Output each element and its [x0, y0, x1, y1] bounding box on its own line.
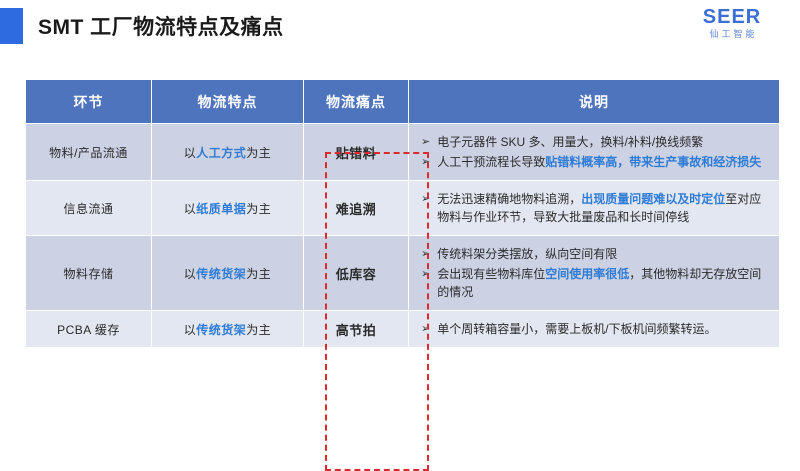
cell-pain-point: 难追溯: [304, 181, 408, 235]
table-row: 信息流通以纸质单据为主难追溯➢无法迅速精确地物料追溯，出现质量问题难以及时定位至…: [26, 181, 779, 235]
bullet-segment: 人工干预流程长导致: [437, 155, 545, 169]
cell-pain-point: 贴错料: [304, 124, 408, 180]
page-header: SMT 工厂物流特点及痛点 SEER 仙工智能: [0, 0, 800, 62]
feature-prefix: 以: [184, 267, 197, 281]
description-bullet: ➢传统料架分类摆放，纵向空间有限: [421, 245, 769, 263]
bullet-segment: 单个周转箱容量小，需要上板机/下板机间频繁转运。: [437, 322, 716, 336]
logistics-table-wrapper: 环节 物流特点 物流痛点 说明 物料/产品流通以人工方式为主贴错料➢电子元器件 …: [25, 79, 778, 395]
bullet-arrow-icon: ➢: [421, 133, 430, 151]
bullet-arrow-icon: ➢: [421, 245, 430, 263]
feature-highlight: 传统货架: [196, 267, 246, 281]
table-row: 物料存储以传统货架为主低库容➢传统料架分类摆放，纵向空间有限➢会出现有些物料库位…: [26, 236, 779, 310]
cell-feature: 以传统货架为主: [152, 236, 303, 310]
bullet-text: 传统料架分类摆放，纵向空间有限: [437, 245, 769, 263]
description-bullet: ➢电子元器件 SKU 多、用量大，换料/补料/换线频繁: [421, 133, 769, 151]
bullet-arrow-icon: ➢: [421, 190, 430, 208]
feature-highlight: 人工方式: [196, 146, 246, 160]
column-header-feature: 物流特点: [152, 80, 303, 123]
bullet-text: 电子元器件 SKU 多、用量大，换料/补料/换线频繁: [437, 133, 769, 151]
cell-description: ➢单个周转箱容量小，需要上板机/下板机间频繁转运。: [409, 311, 779, 347]
bullet-segment: 贴错料概率高，带来生产事故和经济损失: [545, 155, 761, 169]
logistics-table: 环节 物流特点 物流痛点 说明 物料/产品流通以人工方式为主贴错料➢电子元器件 …: [25, 79, 780, 348]
description-bullet: ➢无法迅速精确地物料追溯，出现质量问题难以及时定位至对应物料与作业环节，导致大批…: [421, 190, 769, 226]
feature-suffix: 为主: [246, 202, 271, 216]
brand-logo-mark: SEER: [682, 6, 782, 28]
description-bullet: ➢人工干预流程长导致贴错料概率高，带来生产事故和经济损失: [421, 153, 769, 171]
bullet-arrow-icon: ➢: [421, 320, 430, 338]
cell-feature: 以传统货架为主: [152, 311, 303, 347]
bullet-segment: 电子元器件 SKU 多、用量大，换料/补料/换线频繁: [437, 135, 703, 149]
bullet-arrow-icon: ➢: [421, 153, 430, 171]
feature-prefix: 以: [184, 202, 197, 216]
bullet-text: 无法迅速精确地物料追溯，出现质量问题难以及时定位至对应物料与作业环节，导致大批量…: [437, 190, 769, 226]
bullet-segment: 无法迅速精确地物料追溯，: [437, 192, 581, 206]
bullet-segment: 会出现有些物料库位: [437, 267, 545, 281]
cell-stage: 信息流通: [26, 181, 151, 235]
cell-stage: 物料存储: [26, 236, 151, 310]
title-accent-bar: [0, 8, 23, 44]
feature-suffix: 为主: [246, 323, 271, 337]
cell-stage: 物料/产品流通: [26, 124, 151, 180]
cell-pain-point: 低库容: [304, 236, 408, 310]
page-title: SMT 工厂物流特点及痛点: [38, 11, 284, 41]
feature-prefix: 以: [184, 323, 197, 337]
brand-logo: SEER 仙工智能: [682, 6, 782, 41]
cell-feature: 以纸质单据为主: [152, 181, 303, 235]
cell-pain-point: 高节拍: [304, 311, 408, 347]
cell-stage: PCBA 缓存: [26, 311, 151, 347]
column-header-stage: 环节: [26, 80, 151, 123]
cell-description: ➢电子元器件 SKU 多、用量大，换料/补料/换线频繁➢人工干预流程长导致贴错料…: [409, 124, 779, 180]
table-row: 物料/产品流通以人工方式为主贴错料➢电子元器件 SKU 多、用量大，换料/补料/…: [26, 124, 779, 180]
cell-description: ➢无法迅速精确地物料追溯，出现质量问题难以及时定位至对应物料与作业环节，导致大批…: [409, 181, 779, 235]
table-body: 物料/产品流通以人工方式为主贴错料➢电子元器件 SKU 多、用量大，换料/补料/…: [26, 124, 779, 347]
bullet-segment: 传统料架分类摆放，纵向空间有限: [437, 247, 617, 261]
column-header-description: 说明: [409, 80, 779, 123]
feature-prefix: 以: [184, 146, 197, 160]
bullet-segment: 空间使用率很低: [545, 267, 629, 281]
table-header-row: 环节 物流特点 物流痛点 说明: [26, 80, 779, 123]
feature-suffix: 为主: [246, 146, 271, 160]
description-bullet: ➢单个周转箱容量小，需要上板机/下板机间频繁转运。: [421, 320, 769, 338]
cell-feature: 以人工方式为主: [152, 124, 303, 180]
bullet-arrow-icon: ➢: [421, 265, 430, 283]
cell-description: ➢传统料架分类摆放，纵向空间有限➢会出现有些物料库位空间使用率很低，其他物料却无…: [409, 236, 779, 310]
bullet-text: 会出现有些物料库位空间使用率很低，其他物料却无存放空间的情况: [437, 265, 769, 301]
bullet-text: 人工干预流程长导致贴错料概率高，带来生产事故和经济损失: [437, 153, 769, 171]
table-row: PCBA 缓存以传统货架为主高节拍➢单个周转箱容量小，需要上板机/下板机间频繁转…: [26, 311, 779, 347]
feature-highlight: 传统货架: [196, 323, 246, 337]
bullet-segment: 出现质量问题难以及时定位: [581, 192, 725, 206]
table-header: 环节 物流特点 物流痛点 说明: [26, 80, 779, 123]
column-header-pain: 物流痛点: [304, 80, 408, 123]
brand-logo-subtitle: 仙工智能: [682, 28, 782, 41]
description-bullet: ➢会出现有些物料库位空间使用率很低，其他物料却无存放空间的情况: [421, 265, 769, 301]
feature-highlight: 纸质单据: [196, 202, 246, 216]
bullet-text: 单个周转箱容量小，需要上板机/下板机间频繁转运。: [437, 320, 769, 338]
feature-suffix: 为主: [246, 267, 271, 281]
